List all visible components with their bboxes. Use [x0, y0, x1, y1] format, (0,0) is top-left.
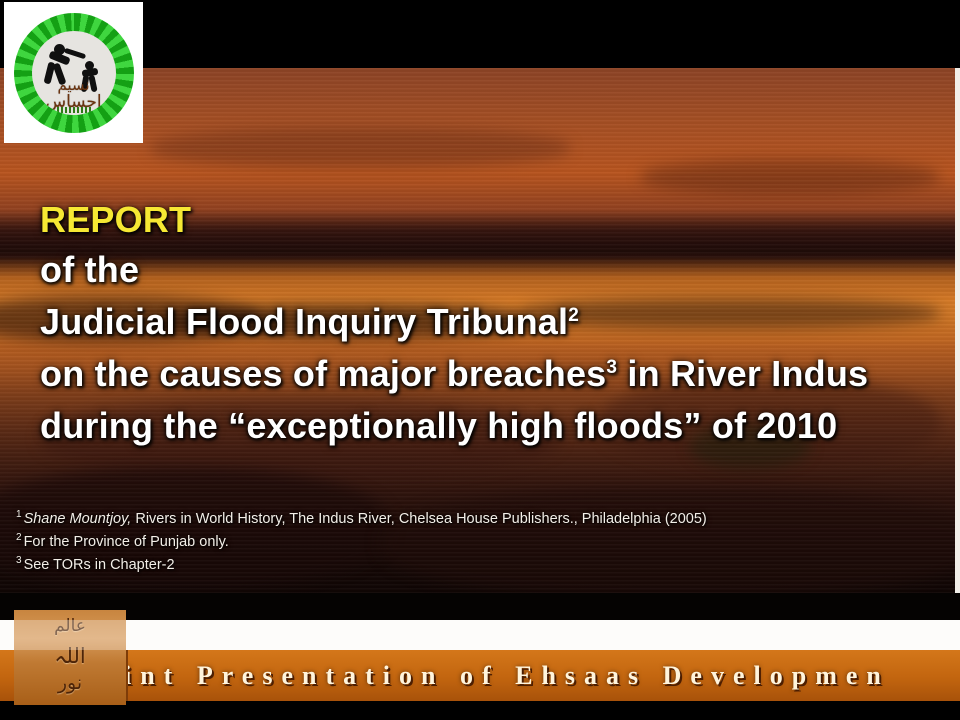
footnote-item: 2For the Province of Punjab only.	[16, 531, 946, 554]
headline-breaches-text: on the causes of major breaches	[40, 353, 606, 394]
logo-figures-icon: نسیم احساس	[32, 31, 116, 115]
headline-breaches-tail: in River Indus	[617, 353, 868, 394]
slide-stage: نسیم احساس REPORT of the Judicial Flood …	[0, 0, 960, 720]
headline-line-floods: during the “exceptionally high floods” o…	[40, 400, 940, 452]
calligraphy-divider	[126, 650, 128, 701]
calligraphy-line-1: عالم	[14, 616, 126, 636]
calligraphy-line-3: نور	[14, 672, 126, 694]
frame-right-edge	[955, 68, 960, 593]
urdu-calligraphy-plaque: عالم اللہ نور	[14, 610, 126, 705]
calligraphy-line-2: اللہ	[14, 644, 126, 668]
logo-barcode-icon	[57, 107, 91, 113]
footnote-marker: 2	[16, 532, 22, 543]
slide-headline: REPORT of the Judicial Flood Inquiry Tri…	[40, 196, 940, 452]
footnote-marker: 1	[16, 509, 22, 520]
headline-line-breaches: on the causes of major breaches3 in Rive…	[40, 348, 940, 400]
letterbox-middle	[0, 593, 960, 620]
marquee-text: int Presentation of Ehsaas Developmen	[124, 661, 890, 691]
bottom-marquee-bar: int Presentation of Ehsaas Developmen	[0, 650, 960, 701]
headline-tribunal-footnote-marker: 2	[568, 305, 579, 326]
headline-line-of-the: of the	[40, 244, 940, 296]
headline-line-report: REPORT	[40, 196, 940, 244]
footnote-marker: 3	[16, 555, 22, 566]
footnote-text: See TORs in Chapter-2	[24, 557, 175, 573]
letterbox-top	[0, 0, 960, 68]
white-separator-strip	[0, 620, 960, 650]
headline-breaches-footnote-marker: 3	[606, 357, 617, 378]
footnote-item: 3See TORs in Chapter-2	[16, 554, 946, 577]
headline-tribunal-text: Judicial Flood Inquiry Tribunal	[40, 301, 568, 342]
headline-line-tribunal: Judicial Flood Inquiry Tribunal2	[40, 296, 940, 348]
footnote-item: 1Shane Mountjoy, Rivers in World History…	[16, 508, 946, 531]
logo-ring-icon: نسیم احساس	[14, 13, 134, 133]
footnote-author: Shane Mountjoy,	[24, 511, 132, 527]
footnote-text: Rivers in World History, The Indus River…	[131, 511, 706, 527]
footnote-list: 1Shane Mountjoy, Rivers in World History…	[16, 508, 946, 577]
organization-logo: نسیم احساس	[4, 2, 143, 143]
footnote-text: For the Province of Punjab only.	[24, 534, 229, 550]
letterbox-bottom	[0, 701, 960, 720]
